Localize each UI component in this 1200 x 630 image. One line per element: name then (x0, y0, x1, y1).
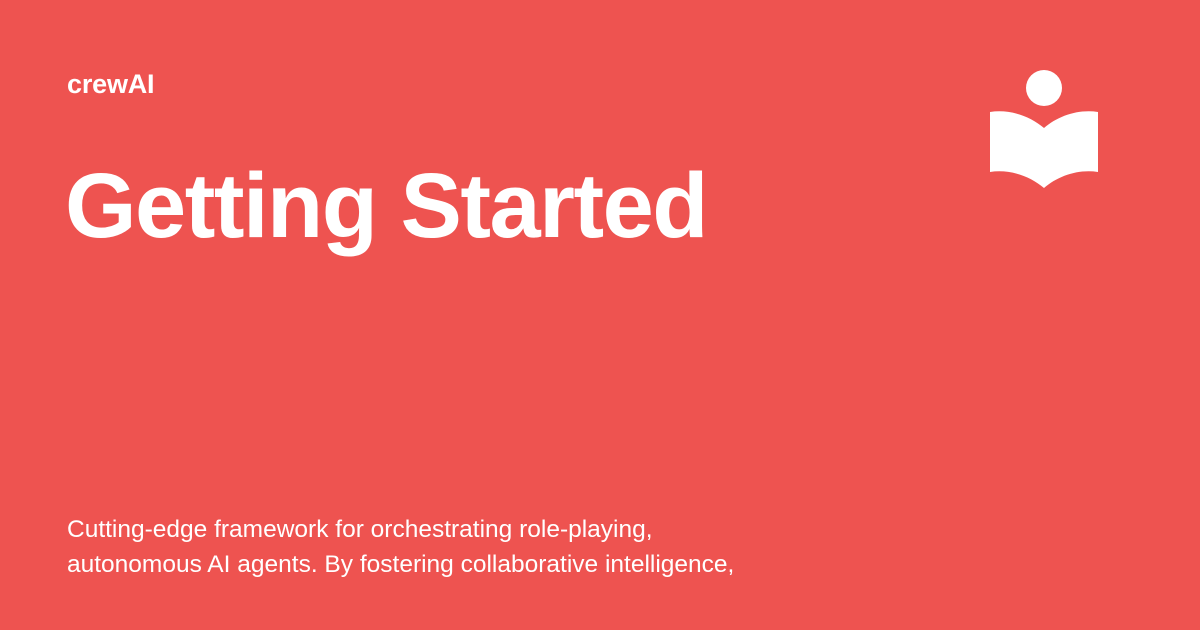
description-line-1: Cutting-edge framework for orchestrating… (67, 512, 907, 547)
open-book-reader-icon (984, 64, 1104, 196)
logo-book-left-page (990, 111, 1044, 188)
description-line-2: autonomous AI agents. By fostering colla… (67, 547, 907, 582)
page-description: Cutting-edge framework for orchestrating… (67, 512, 907, 582)
logo-head-circle (1026, 70, 1062, 106)
brand-label: crewAI (67, 70, 154, 100)
og-card: crewAI Getting Started Cutting-edge fram… (0, 0, 1200, 630)
logo-book-right-page (1044, 111, 1098, 188)
page-title: Getting Started (65, 160, 707, 254)
